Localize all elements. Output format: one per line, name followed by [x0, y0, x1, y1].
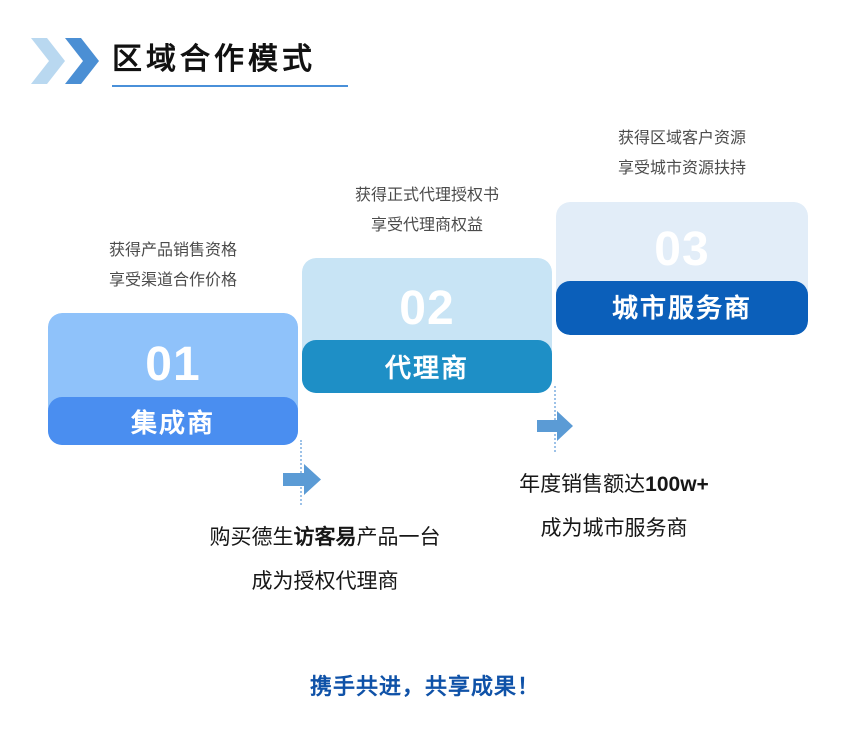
step-label: 集成商 [131, 410, 215, 436]
note-highlight: 100w+ [645, 473, 709, 496]
step-label-band: 城市服务商 [556, 281, 808, 335]
note-line-1: 年度销售额达100w+ [446, 463, 782, 507]
step-number: 02 [302, 285, 552, 333]
step-caption-3: 获得区域客户资源 享受城市资源扶持 [556, 124, 808, 184]
note-prefix: 购买德生 [210, 526, 294, 549]
caption-line: 获得区域客户资源 [556, 124, 808, 154]
caption-line: 享受城市资源扶持 [556, 154, 808, 184]
step-requirement-note-2: 年度销售额达100w+ 成为城市服务商 [446, 463, 782, 551]
note-line-2: 成为城市服务商 [446, 507, 782, 551]
steps-container: 获得产品销售资格 享受渠道合作价格 01 集成商 获得正式代理授权书 享受代理商… [0, 0, 850, 737]
step-caption-1: 获得产品销售资格 享受渠道合作价格 [48, 236, 298, 296]
arrow-right-icon [537, 411, 573, 441]
note-line-2: 成为授权代理商 [130, 560, 520, 604]
caption-line: 享受代理商权益 [302, 211, 552, 241]
step-card-body: 01 集成商 [48, 313, 298, 445]
arrow-right-icon [283, 464, 321, 495]
step-label-band: 集成商 [48, 397, 298, 445]
step-card-body: 02 代理商 [302, 258, 552, 393]
note-prefix: 年度销售额达 [519, 473, 645, 496]
note-highlight: 访客易 [294, 526, 357, 549]
step-label: 代理商 [385, 355, 469, 381]
step-label: 城市服务商 [612, 295, 752, 321]
note-suffix: 产品一台 [357, 526, 441, 549]
step-number: 03 [556, 226, 808, 274]
caption-line: 享受渠道合作价格 [48, 266, 298, 296]
caption-line: 获得产品销售资格 [48, 236, 298, 266]
caption-line: 获得正式代理授权书 [302, 181, 552, 211]
step-number: 01 [48, 341, 298, 389]
footer-slogan: 携手共进，共享成果！ [0, 672, 850, 702]
step-caption-2: 获得正式代理授权书 享受代理商权益 [302, 181, 552, 241]
step-label-band: 代理商 [302, 340, 552, 393]
step-card-body: 03 城市服务商 [556, 202, 808, 335]
